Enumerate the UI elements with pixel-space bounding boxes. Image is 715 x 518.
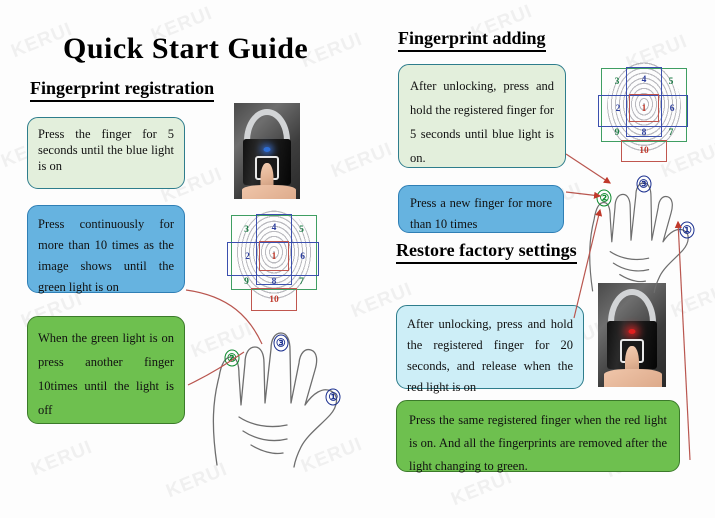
fp-zone-label-8: 8 — [642, 128, 647, 138]
brand-watermark: KERUI — [328, 139, 396, 183]
fp-zone-label-10: 10 — [269, 295, 279, 305]
callout-registration-step-1: Press the finger for 5 seconds until the… — [27, 117, 185, 189]
fp-zone-label-9: 9 — [615, 128, 620, 138]
fp-zone-label-5: 5 — [669, 77, 674, 87]
padlock-led-blue — [264, 147, 271, 152]
hand-diagram-right: ③ ② ① — [575, 160, 715, 295]
fp-zone-label-3: 3 — [244, 225, 249, 235]
fingerprint-grid-diagram: 3 4 5 2 1 6 9 8 7 10 — [221, 205, 327, 309]
fp-zone-label-7: 7 — [299, 277, 304, 287]
callout-restore-step-1: After unlocking, press and hold the regi… — [396, 305, 584, 389]
padlock-blue-light-image — [234, 103, 300, 199]
hand-photo — [242, 185, 296, 199]
fp-zone-label-2: 2 — [616, 104, 621, 114]
fp-zone-label-2: 2 — [245, 252, 250, 262]
hand-photo — [604, 369, 662, 387]
callout-text: Press the same registered finger when th… — [409, 409, 667, 478]
fp-zone-label-3: 3 — [615, 77, 620, 87]
finger-marker-2: ② — [597, 189, 612, 206]
fp-zone-label-9: 9 — [244, 277, 249, 287]
fp-zone-label-6: 6 — [300, 252, 305, 262]
padlock-red-light-image — [598, 283, 666, 387]
finger-marker-1: ① — [326, 389, 341, 406]
section-heading-registration: Fingerprint registration — [30, 78, 214, 102]
finger-marker-2: ② — [224, 349, 239, 366]
fp-zone-label-4: 4 — [272, 223, 277, 233]
fp-zone-label-4: 4 — [642, 75, 647, 85]
finger-marker-1: ① — [680, 222, 695, 239]
hand-outline-icon — [195, 305, 370, 470]
page-title: Quick Start Guide — [63, 32, 308, 66]
finger-marker-3: ③ — [636, 176, 651, 193]
callout-text: Press the finger for 5 seconds until the… — [38, 126, 174, 174]
fingerprint-grid-diagram: 3 4 5 2 1 6 9 8 7 10 — [592, 58, 696, 160]
fp-zone-label-10: 10 — [639, 146, 649, 156]
section-heading-restore: Restore factory settings — [396, 240, 577, 264]
brand-watermark: KERUI — [298, 29, 366, 73]
fp-zone-label-6: 6 — [670, 104, 675, 114]
finger-marker-3: ③ — [273, 334, 288, 351]
callout-adding-step-2: Press a new finger for more than 10 time… — [398, 185, 564, 233]
fp-zone-label-5: 5 — [299, 225, 304, 235]
callout-adding-step-1: After unlocking, press and hold the regi… — [398, 64, 566, 168]
hand-diagram-left: ③ ② ① — [195, 305, 370, 470]
quick-start-guide-page: KERUI KERUI KERUI KERUI KERUI KERUI KERU… — [0, 0, 715, 518]
fp-zone-label-8: 8 — [272, 277, 277, 287]
padlock-led-red — [629, 329, 636, 334]
callout-restore-step-2: Press the same registered finger when th… — [396, 400, 680, 472]
fp-zone-label-1: 1 — [642, 104, 647, 114]
fp-zone-label-7: 7 — [669, 128, 674, 138]
callout-registration-step-3: When the green light is on press another… — [27, 316, 185, 424]
fp-zone-label-1: 1 — [272, 252, 277, 262]
section-heading-adding: Fingerprint adding — [398, 28, 546, 52]
callout-text: After unlocking, press and hold the regi… — [407, 314, 573, 398]
brand-watermark: KERUI — [28, 437, 96, 481]
callout-text: After unlocking, press and hold the regi… — [410, 74, 554, 170]
callout-text: When the green light is on press another… — [38, 326, 174, 422]
callout-text: Press a new finger for more than 10 time… — [410, 193, 552, 235]
callout-text: Press continuously for more than 10 time… — [38, 214, 174, 298]
callout-registration-step-2: Press continuously for more than 10 time… — [27, 205, 185, 293]
